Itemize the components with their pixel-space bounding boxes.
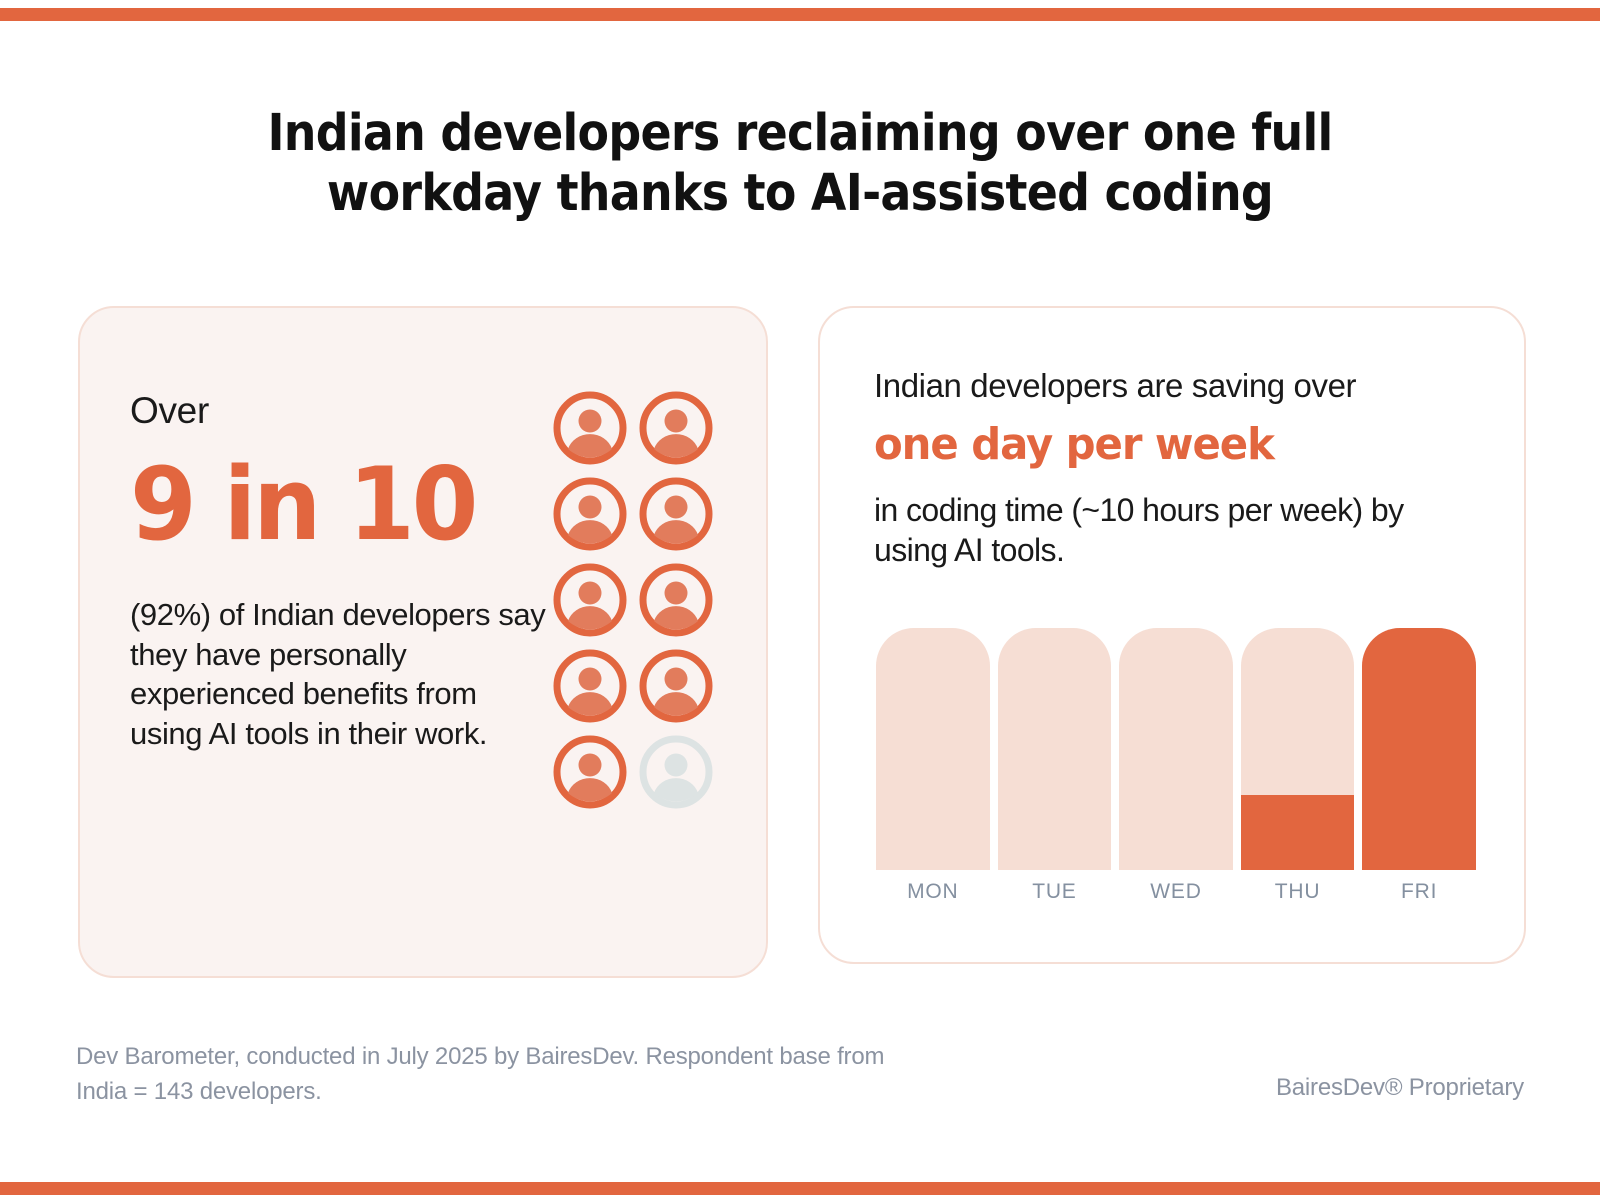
bar-mon: [876, 628, 990, 870]
stat-block: Over 9 in 10 (92%) of Indian developers …: [130, 390, 550, 754]
axis-label-thu: THU: [1241, 880, 1355, 920]
axis-label-mon: MON: [876, 880, 990, 920]
stat-card-adoption: Over 9 in 10 (92%) of Indian developers …: [78, 306, 768, 978]
chart-bars: [876, 628, 1476, 870]
time-saved-highlight: one day per week: [874, 422, 1444, 468]
time-saved-line-1: Indian developers are saving over: [874, 366, 1474, 406]
stat-headline-number: 9 in 10: [130, 454, 529, 555]
page-title-line-2: workday thanks to AI-assisted coding: [80, 164, 1520, 224]
infographic-page: Indian developers reclaiming over one fu…: [0, 0, 1600, 1200]
bar-fill-fri: [1362, 628, 1476, 870]
proprietary-note: BairesDev® Proprietary: [1276, 1074, 1524, 1102]
person-avatar-icon: [552, 734, 628, 810]
bar-column-fri: [1362, 628, 1476, 870]
stat-over-label: Over: [130, 390, 550, 432]
person-avatar-icon: [638, 390, 714, 466]
person-avatar-icon: [638, 562, 714, 638]
weekly-bars-chart: MON TUE WED THU FRI: [876, 628, 1476, 928]
person-avatar-icon: [552, 648, 628, 724]
top-accent-rule: [0, 8, 1600, 21]
person-avatar-icon: [638, 648, 714, 724]
bar-thu: [1241, 628, 1355, 870]
avatar-grid: [552, 390, 714, 820]
time-saved-line-3: in coding time (~10 hours per week) by u…: [874, 490, 1474, 570]
person-avatar-icon: [638, 476, 714, 552]
bar-column-wed: [1119, 628, 1233, 870]
bottom-accent-rule: [0, 1182, 1600, 1195]
time-saved-text-block: Indian developers are saving over one da…: [874, 366, 1474, 570]
bar-wed: [1119, 628, 1233, 870]
stat-card-time-saved: Indian developers are saving over one da…: [818, 306, 1526, 964]
bar-column-tue: [998, 628, 1112, 870]
person-avatar-icon-inactive: [638, 734, 714, 810]
axis-label-tue: TUE: [998, 880, 1112, 920]
stat-description: (92%) of Indian developers say they have…: [130, 595, 550, 754]
person-avatar-icon: [552, 390, 628, 466]
page-title-line-1: Indian developers reclaiming over one fu…: [80, 104, 1520, 164]
axis-label-wed: WED: [1119, 880, 1233, 920]
page-title: Indian developers reclaiming over one fu…: [80, 104, 1520, 224]
axis-label-fri: FRI: [1362, 880, 1476, 920]
source-note: Dev Barometer, conducted in July 2025 by…: [76, 1040, 896, 1110]
bar-fill-thu: [1241, 795, 1355, 870]
person-avatar-icon: [552, 476, 628, 552]
bar-column-mon: [876, 628, 990, 870]
chart-x-axis: MON TUE WED THU FRI: [876, 880, 1476, 920]
bar-column-thu: [1241, 628, 1355, 870]
person-avatar-icon: [552, 562, 628, 638]
bar-fri: [1362, 628, 1476, 870]
bar-tue: [998, 628, 1112, 870]
